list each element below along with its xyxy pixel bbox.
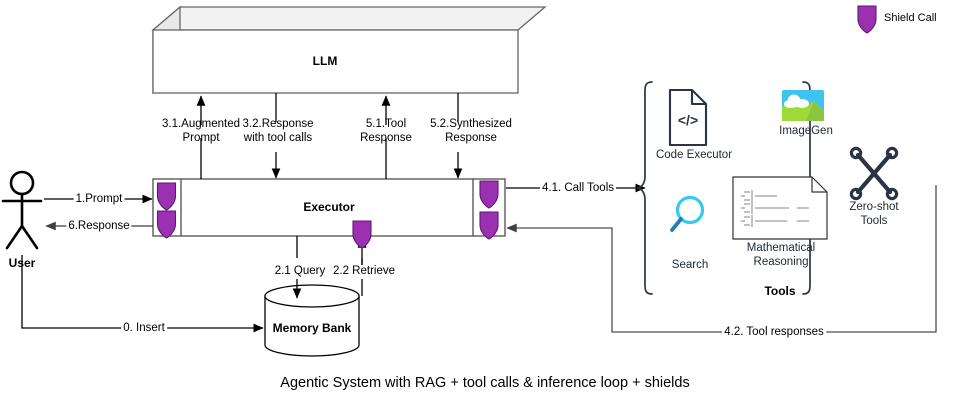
- llm-label: LLM: [313, 54, 338, 68]
- diagram-canvas: </>: [0, 0, 970, 411]
- edge-label-response-with-tool-calls: 3.2.Response with tool calls: [243, 118, 314, 145]
- math-document-icon: [733, 177, 827, 239]
- diagram-vector-layer: </>: [0, 0, 970, 411]
- tools-group-label: Tools: [764, 284, 795, 298]
- tool-label-code-executor: Code Executor: [656, 148, 732, 162]
- tool-label-zero-shot-tools: Zero-shot Tools: [849, 200, 898, 228]
- code-document-icon: </>: [670, 90, 706, 145]
- tool-label-math-reasoning: Mathematical Reasoning: [747, 241, 815, 269]
- edge-label-tool-responses: 4.2. Tool responses: [722, 326, 826, 340]
- edge-label-call-tools: 4.1. Call Tools: [540, 182, 616, 196]
- edge-label-tool-response: 5.1.Tool Response: [360, 118, 412, 145]
- shield-icon-legend: [858, 6, 876, 33]
- shield-icon-executor-memory: [353, 221, 371, 248]
- edge-label-response: 6.Response: [66, 220, 131, 234]
- llm-node: [153, 7, 545, 93]
- user-label: User: [9, 256, 36, 270]
- edge-label-retrieve: 2.2 Retrieve: [331, 265, 397, 279]
- executor-label: Executor: [303, 200, 354, 214]
- edge-insert: [22, 255, 263, 328]
- user-node: [3, 172, 41, 248]
- memory-bank-label: Memory Bank: [273, 321, 352, 335]
- tool-label-search: Search: [672, 258, 708, 272]
- legend-shield-call-label: Shield Call: [884, 12, 937, 24]
- image-gen-icon: [782, 90, 824, 121]
- magnifier-icon: [672, 198, 703, 231]
- edge-label-insert: 0. Insert: [121, 322, 167, 336]
- edge-label-synthesized-response: 5.2.Synthesized Response: [430, 118, 512, 145]
- tool-label-image-gen: ImageGen: [779, 124, 833, 138]
- svg-text:</>: </>: [678, 112, 698, 128]
- crossed-wrenches-icon: [851, 148, 896, 198]
- edge-label-augmented-prompt: 3.1.Augmented Prompt: [162, 118, 240, 145]
- edge-label-prompt: 1.Prompt: [74, 193, 125, 207]
- edge-label-query: 2.1 Query: [273, 265, 328, 279]
- diagram-caption: Agentic System with RAG + tool calls & i…: [280, 375, 689, 391]
